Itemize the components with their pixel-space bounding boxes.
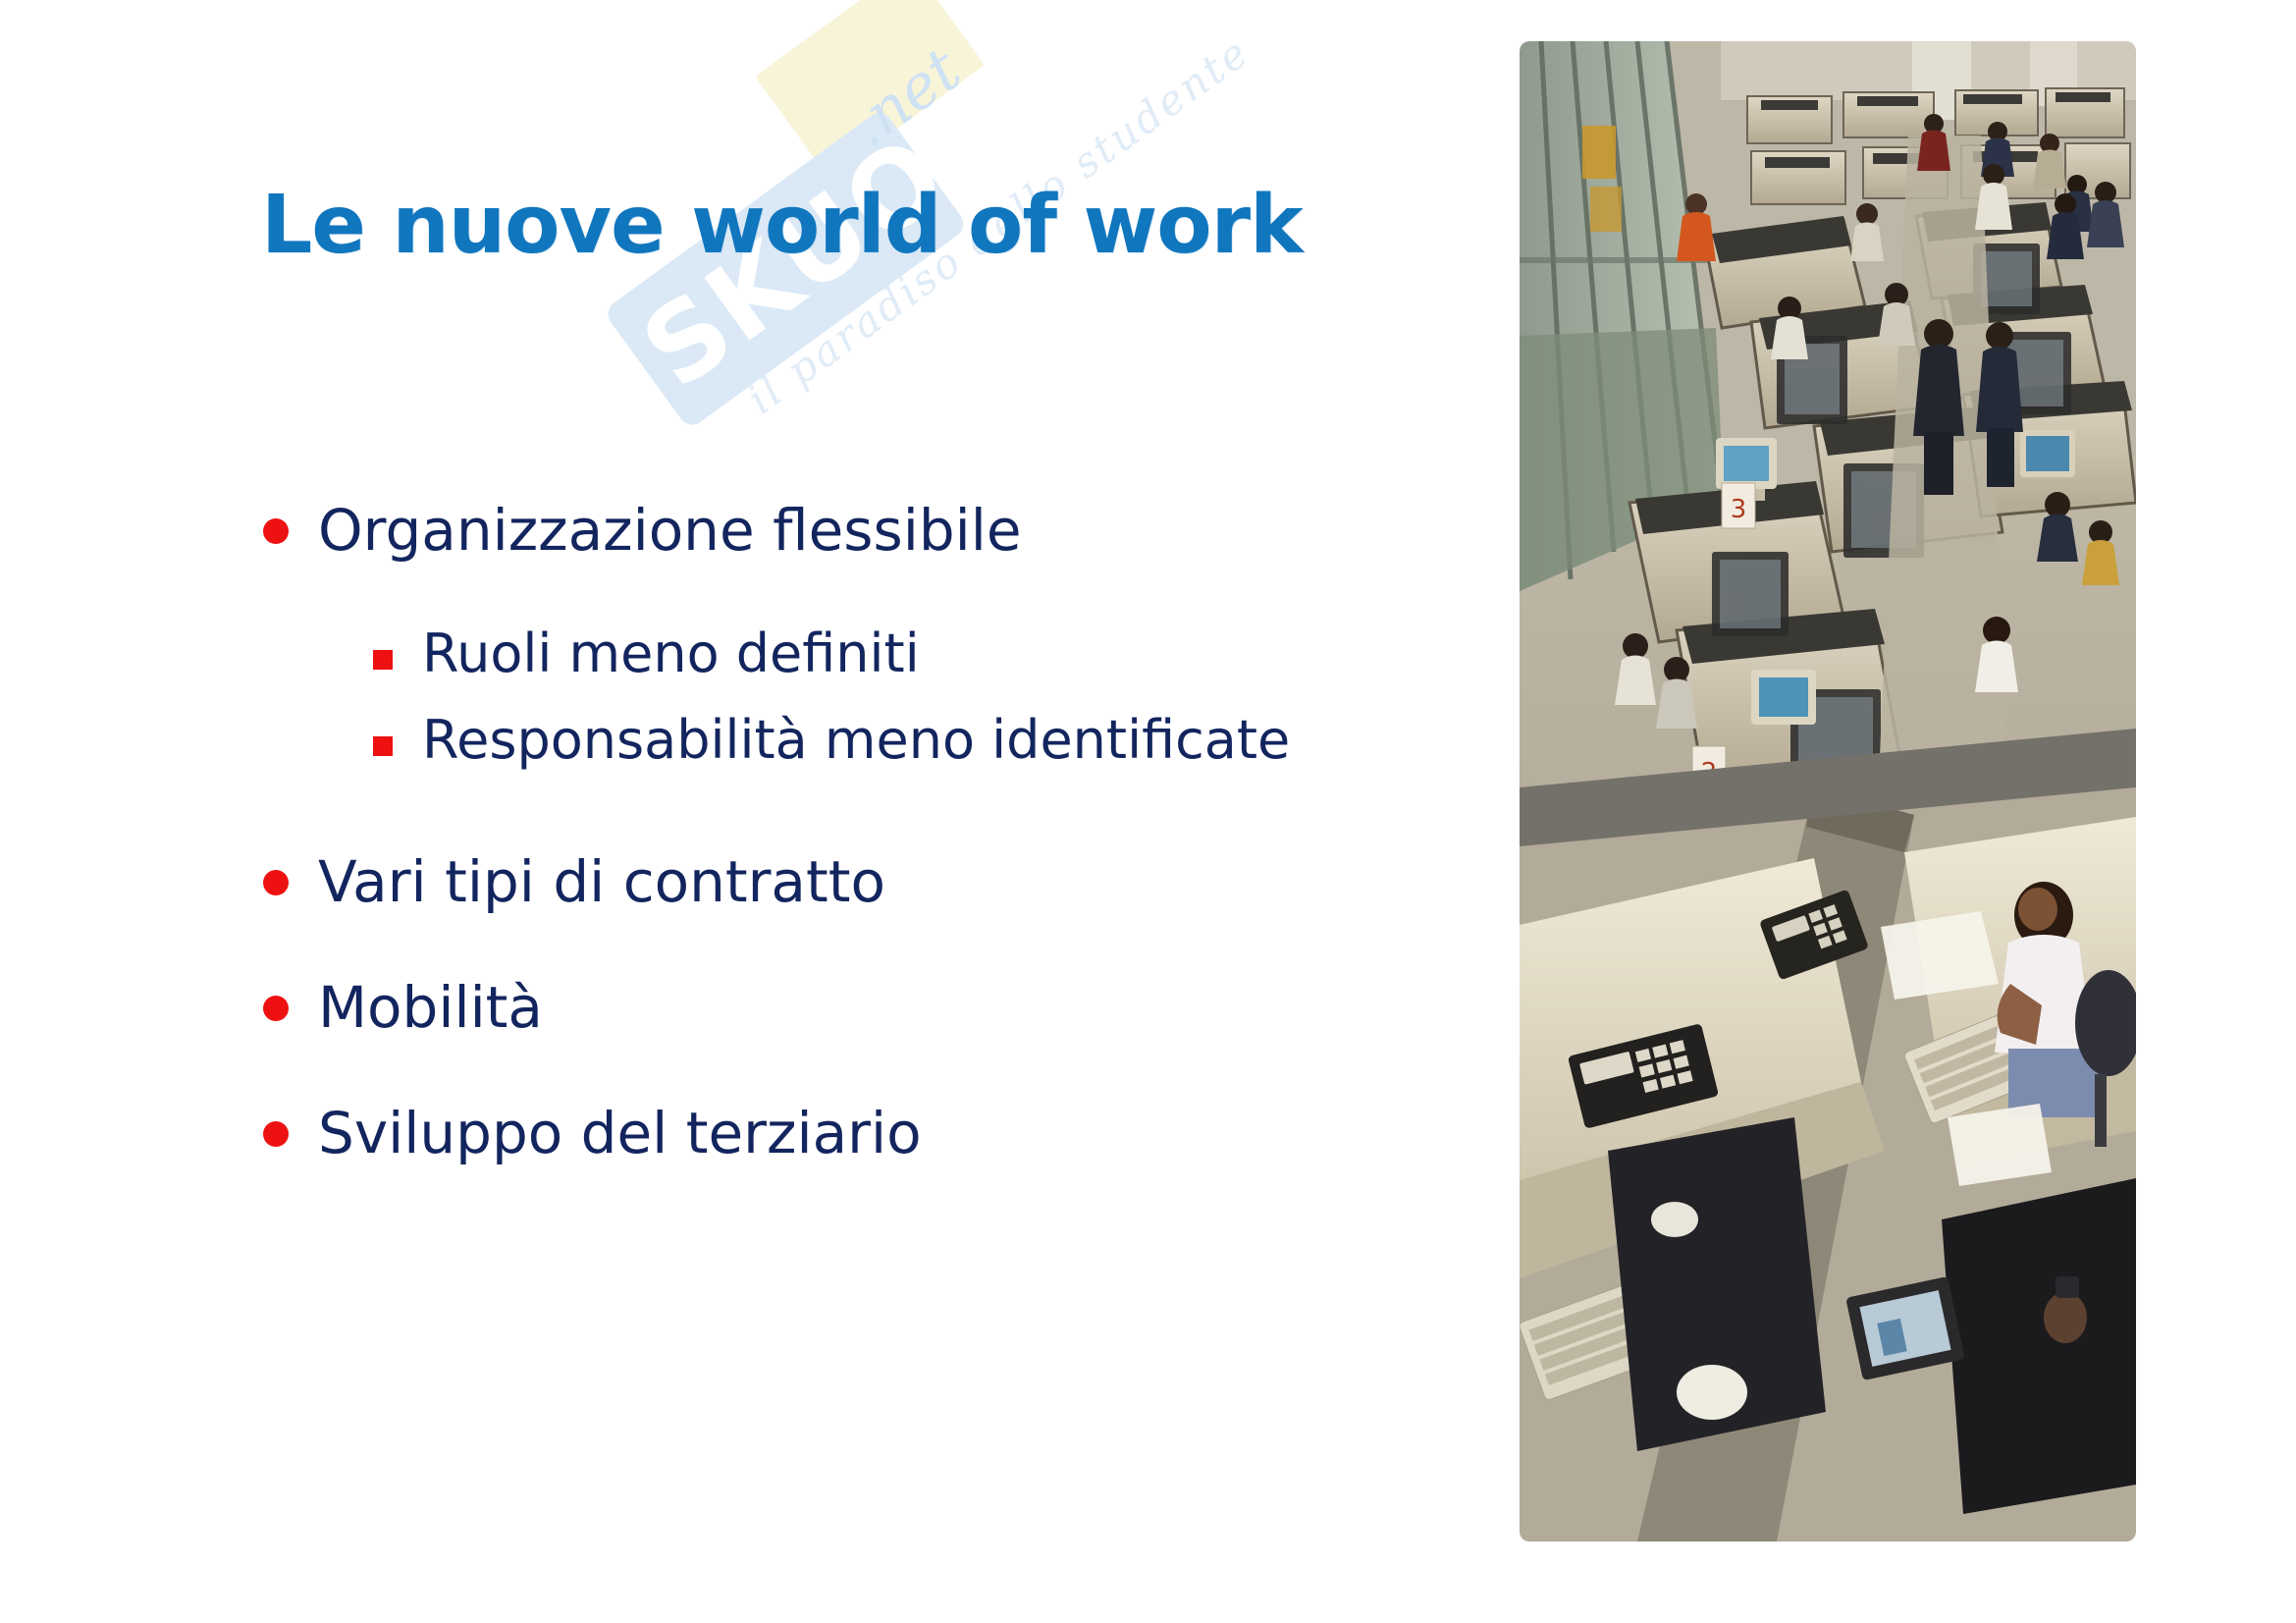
bullet-dot-icon [263,870,289,895]
bullet-dot-icon [263,996,289,1021]
list-item-label: Organizzazione flessibile [318,489,1022,571]
watermark-yellow-patch [755,0,985,178]
list-item-label: Mobilità [318,966,543,1049]
list-item: Sviluppo del terziario [263,1092,1500,1174]
list-item-label: Vari tipi di contratto [318,840,885,923]
bullet-square-icon [373,650,393,670]
list-item: Responsabilità meno identificate [373,701,1500,780]
list-item-label: Ruoli meno definiti [422,615,920,693]
watermark-domain-text: .net [835,33,974,161]
bullet-dot-icon [263,518,289,544]
slide-title: Le nuove world of work [261,175,1303,277]
bullet-list: Organizzazione flessibile Ruoli meno def… [263,489,1500,1174]
office-photo-frame: 3 2 [1520,41,2136,1542]
list-item: Vari tipi di contratto [263,840,1500,923]
bullet-dot-icon [263,1121,289,1147]
list-item-label: Responsabilità meno identificate [422,701,1290,780]
slide-canvas: SKUOLA .net il paradiso dello studente L… [0,0,2296,1623]
list-item: Ruoli meno definiti [373,615,1500,693]
svg-text:3: 3 [1731,495,1747,524]
list-item-label: Sviluppo del terziario [318,1092,922,1174]
office-photo-artwork: 3 2 [1520,41,2136,1542]
office-photo: 3 2 [1520,41,2136,1542]
list-item: Mobilità [263,966,1500,1049]
list-item: Organizzazione flessibile [263,489,1500,571]
bullet-square-icon [373,736,393,756]
